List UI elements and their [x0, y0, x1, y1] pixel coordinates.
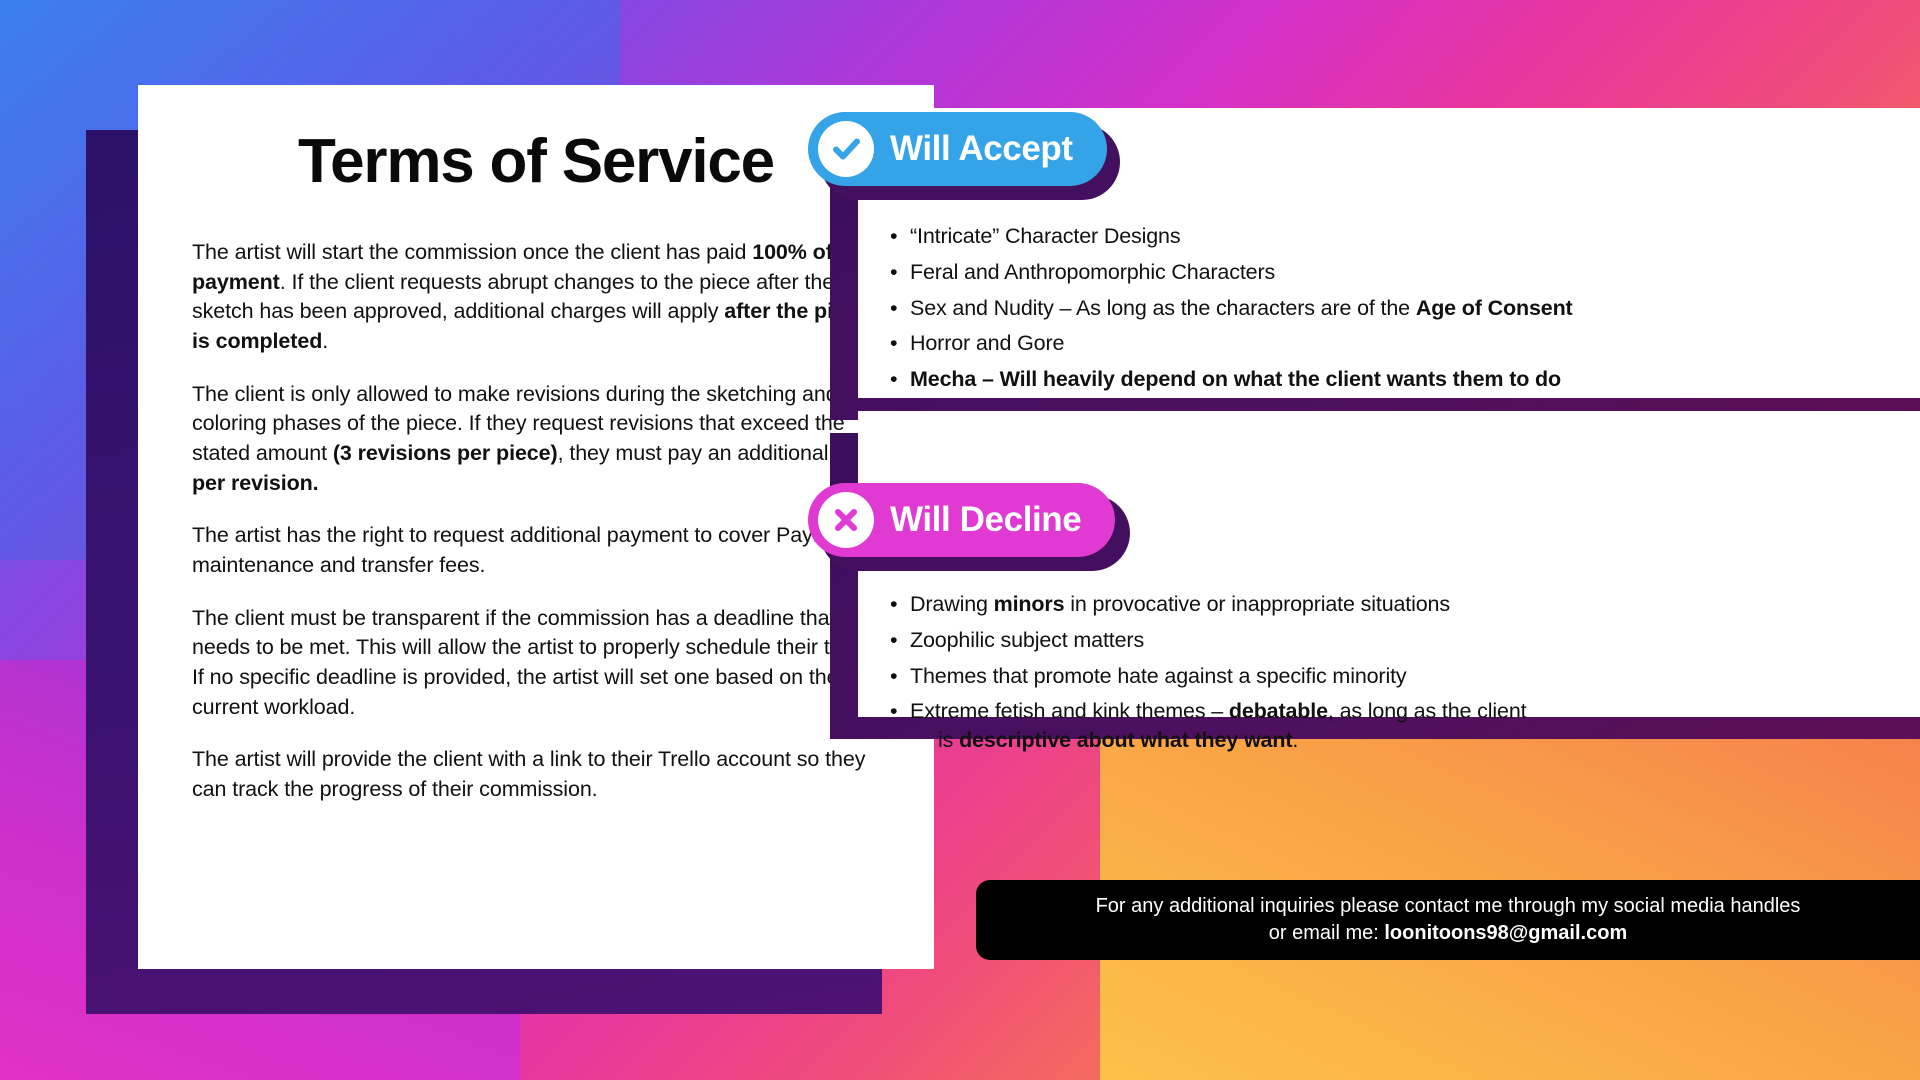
- accept-list: “Intricate” Character DesignsFeral and A…: [890, 222, 1573, 401]
- accept-badge[interactable]: Will Accept: [808, 112, 1107, 186]
- plain-text: .: [1292, 728, 1298, 752]
- terms-paragraph: The artist will provide the client with …: [192, 745, 880, 804]
- decline-badge-label: Will Decline: [890, 500, 1081, 540]
- plain-text: Themes that promote hate against a speci…: [910, 664, 1407, 688]
- footer-email: loonitoons98@gmail.com: [1384, 922, 1627, 944]
- plain-text: The artist will provide the client with …: [192, 747, 865, 801]
- plain-text: Feral and Anthropomorphic Characters: [910, 260, 1275, 284]
- plain-text: is: [938, 728, 959, 752]
- list-item: Horror and Gore: [890, 329, 1573, 358]
- plain-text: The client must be transparent if the co…: [192, 606, 870, 719]
- list-item-continuation: is descriptive about what they want.: [910, 726, 1526, 755]
- plain-text: Drawing: [910, 592, 994, 616]
- plain-text: The artist will start the commission onc…: [192, 240, 752, 264]
- emphasis-text: minors: [994, 592, 1065, 616]
- emphasis-text: debatable: [1229, 699, 1328, 723]
- list-item: Extreme fetish and kink themes – debatab…: [890, 697, 1526, 755]
- page-title: Terms of Service: [192, 129, 880, 194]
- poster-canvas: Terms of Service The artist will start t…: [0, 0, 1920, 1080]
- plain-text: Extreme fetish and kink themes –: [910, 699, 1229, 723]
- list-item: Themes that promote hate against a speci…: [890, 662, 1526, 691]
- accept-badge-label: Will Accept: [890, 129, 1073, 169]
- list-item: Mecha – Will heavily depend on what the …: [890, 365, 1573, 394]
- x-circle-icon: [818, 492, 874, 548]
- list-item: Drawing minors in provocative or inappro…: [890, 590, 1526, 619]
- plain-text: in provocative or inappropriate situatio…: [1064, 592, 1450, 616]
- list-item: Feral and Anthropomorphic Characters: [890, 258, 1573, 287]
- list-item: Zoophilic subject matters: [890, 626, 1526, 655]
- list-item: “Intricate” Character Designs: [890, 222, 1573, 251]
- terms-paragraph: The client must be transparent if the co…: [192, 604, 880, 723]
- plain-text: , they must pay an additional: [558, 441, 835, 465]
- emphasis-text: descriptive about what they want: [959, 728, 1292, 752]
- plain-text: Sex and Nudity – As long as the characte…: [910, 296, 1416, 320]
- emphasis-text: Age of Consent: [1416, 296, 1573, 320]
- list-item: Sex and Nudity – As long as the characte…: [890, 294, 1573, 323]
- plain-text: Zoophilic subject matters: [910, 628, 1144, 652]
- terms-paragraph: The artist has the right to request addi…: [192, 521, 880, 580]
- terms-paragraph: The client is only allowed to make revis…: [192, 380, 880, 499]
- plain-text: Horror and Gore: [910, 331, 1064, 355]
- plain-text: The artist has the right to request addi…: [192, 523, 858, 577]
- footer-email-prefix: or email me:: [1269, 922, 1385, 944]
- contact-footer-bar: For any additional inquiries please cont…: [976, 880, 1920, 960]
- plain-text: , as long as the client: [1328, 699, 1527, 723]
- plain-text: .: [322, 329, 328, 353]
- check-circle-icon: [818, 121, 874, 177]
- emphasis-text: Mecha – Will heavily depend on what the …: [910, 367, 1561, 391]
- emphasis-text: (3 revisions per piece): [333, 441, 558, 465]
- footer-line-1: For any additional inquiries please cont…: [1096, 893, 1801, 920]
- decline-list: Drawing minors in provocative or inappro…: [890, 590, 1526, 762]
- footer-line-2: or email me: loonitoons98@gmail.com: [1269, 920, 1627, 947]
- decline-badge[interactable]: Will Decline: [808, 483, 1115, 557]
- terms-paragraph: The artist will start the commission onc…: [192, 238, 880, 357]
- terms-body: The artist will start the commission onc…: [192, 238, 880, 805]
- plain-text: “Intricate” Character Designs: [910, 224, 1180, 248]
